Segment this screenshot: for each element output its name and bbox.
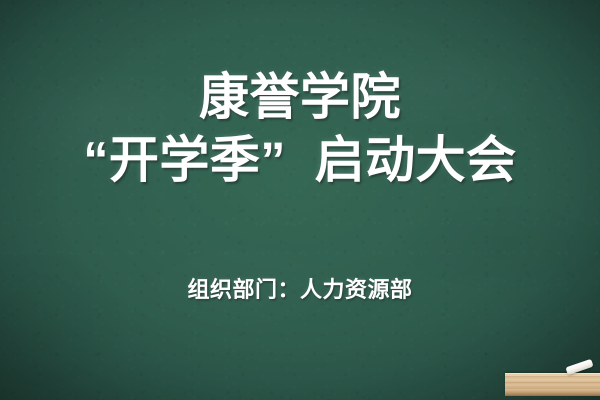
chalk-tray (505, 373, 600, 396)
slide-subtitle-organizing-department: 组织部门：人力资源部 (0, 275, 600, 305)
slide-title-line-1: 康誉学院 (0, 68, 600, 126)
chalkboard-slide: 康誉学院 “开学季” 启动大会 组织部门：人力资源部 (0, 0, 600, 400)
slide-content: 康誉学院 “开学季” 启动大会 组织部门：人力资源部 (0, 0, 600, 400)
slide-title-line-2: “开学季” 启动大会 (0, 131, 600, 189)
wood-grain-texture (505, 373, 600, 396)
